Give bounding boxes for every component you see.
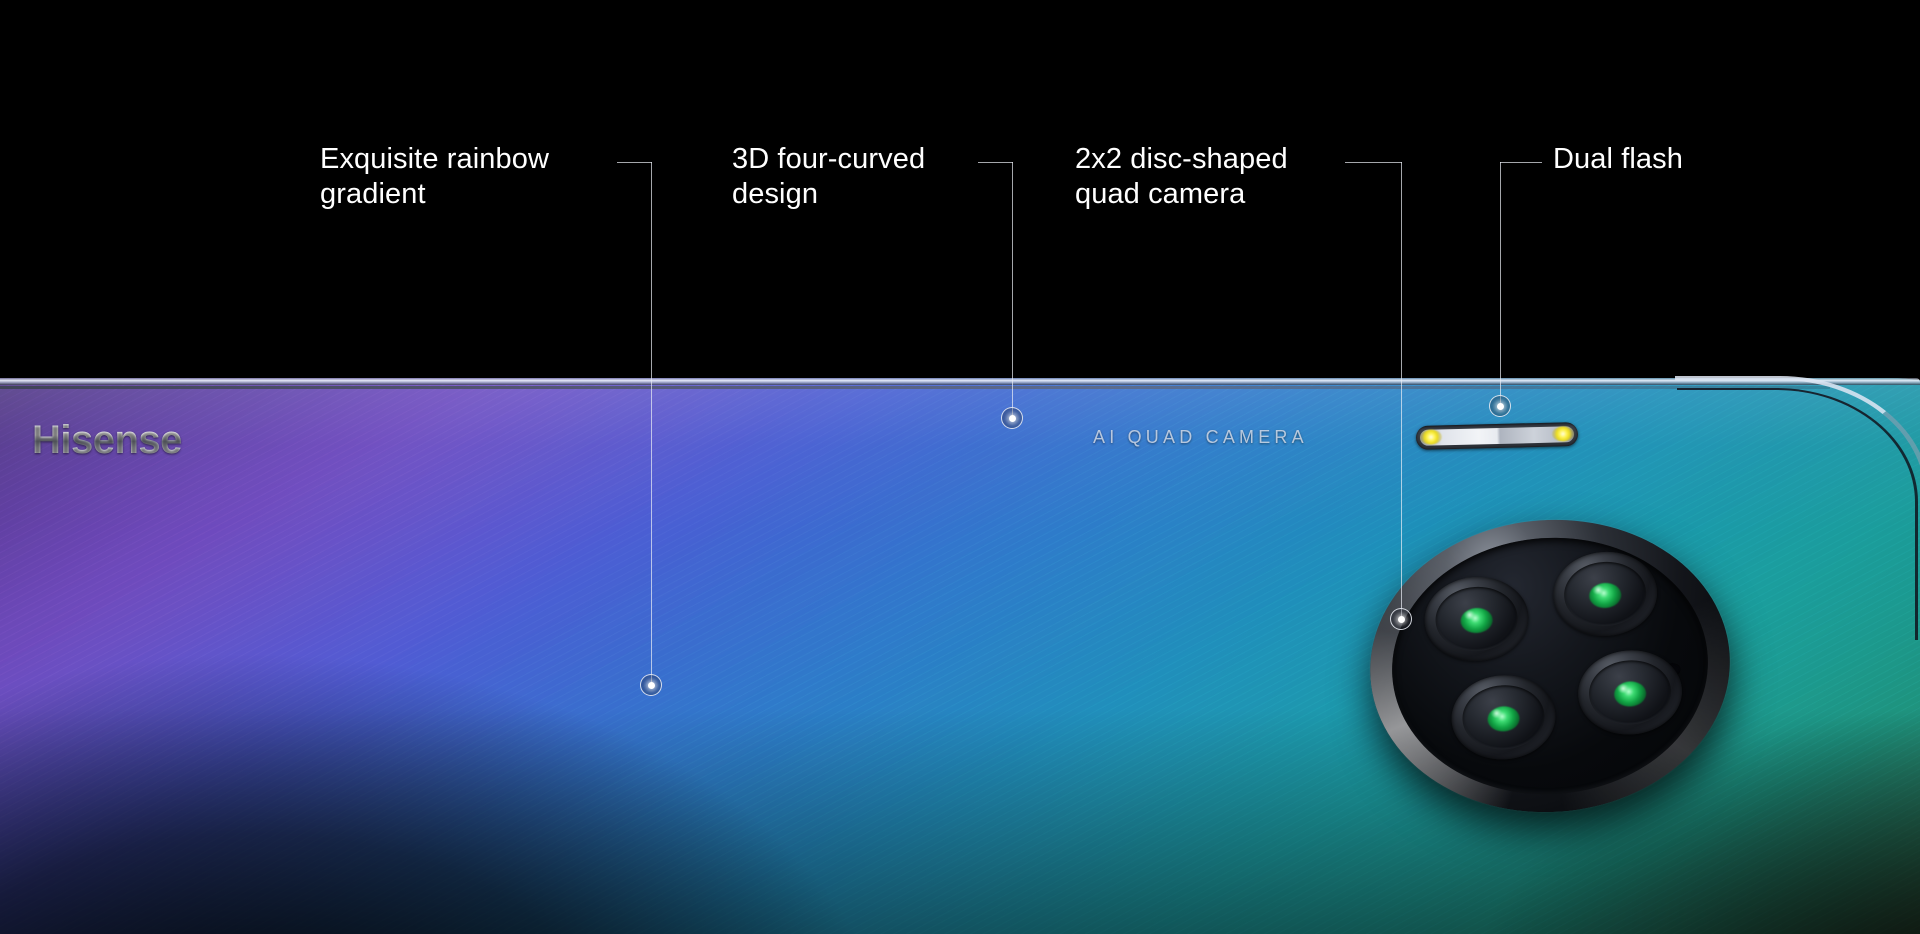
callout-marker-rainbow-gradient [640,674,662,696]
lens-glint [1460,606,1494,634]
lens-glint [1588,581,1622,609]
flash-reflector [1420,426,1574,446]
marker-halo [1005,411,1019,425]
lens-ring [1587,658,1672,727]
quad-camera-disc [1360,508,1739,824]
lens-ring [1562,559,1647,628]
callout-marker-four-curved [1001,407,1023,429]
phone-top-edge-shadow [0,386,1830,389]
marker-halo [1493,399,1507,413]
callout-label-dual-flash: Dual flash [1553,142,1813,177]
phone-top-edge-highlight [0,378,1920,385]
product-feature-image: Hisense AI QUAD CAMERA [0,0,1920,934]
callout-marker-dual-flash [1489,395,1511,417]
callout-marker-quad-camera [1390,608,1412,630]
callout-label-quad-camera: 2x2 disc-shaped quad camera [1075,142,1375,213]
marker-halo [1394,612,1408,626]
ai-quad-camera-text: AI QUAD CAMERA [1093,427,1308,448]
lens-ring [1434,584,1519,653]
lens-glint [1486,705,1520,733]
dual-flash-module [1416,422,1579,450]
hisense-logo: Hisense [32,418,182,463]
callout-label-four-curved: 3D four-curved design [732,142,1012,213]
lens-glint [1613,680,1647,708]
marker-halo [644,678,658,692]
lens-ring [1461,683,1546,752]
callout-label-rainbow-gradient: Exquisite rainbow gradient [320,142,620,213]
